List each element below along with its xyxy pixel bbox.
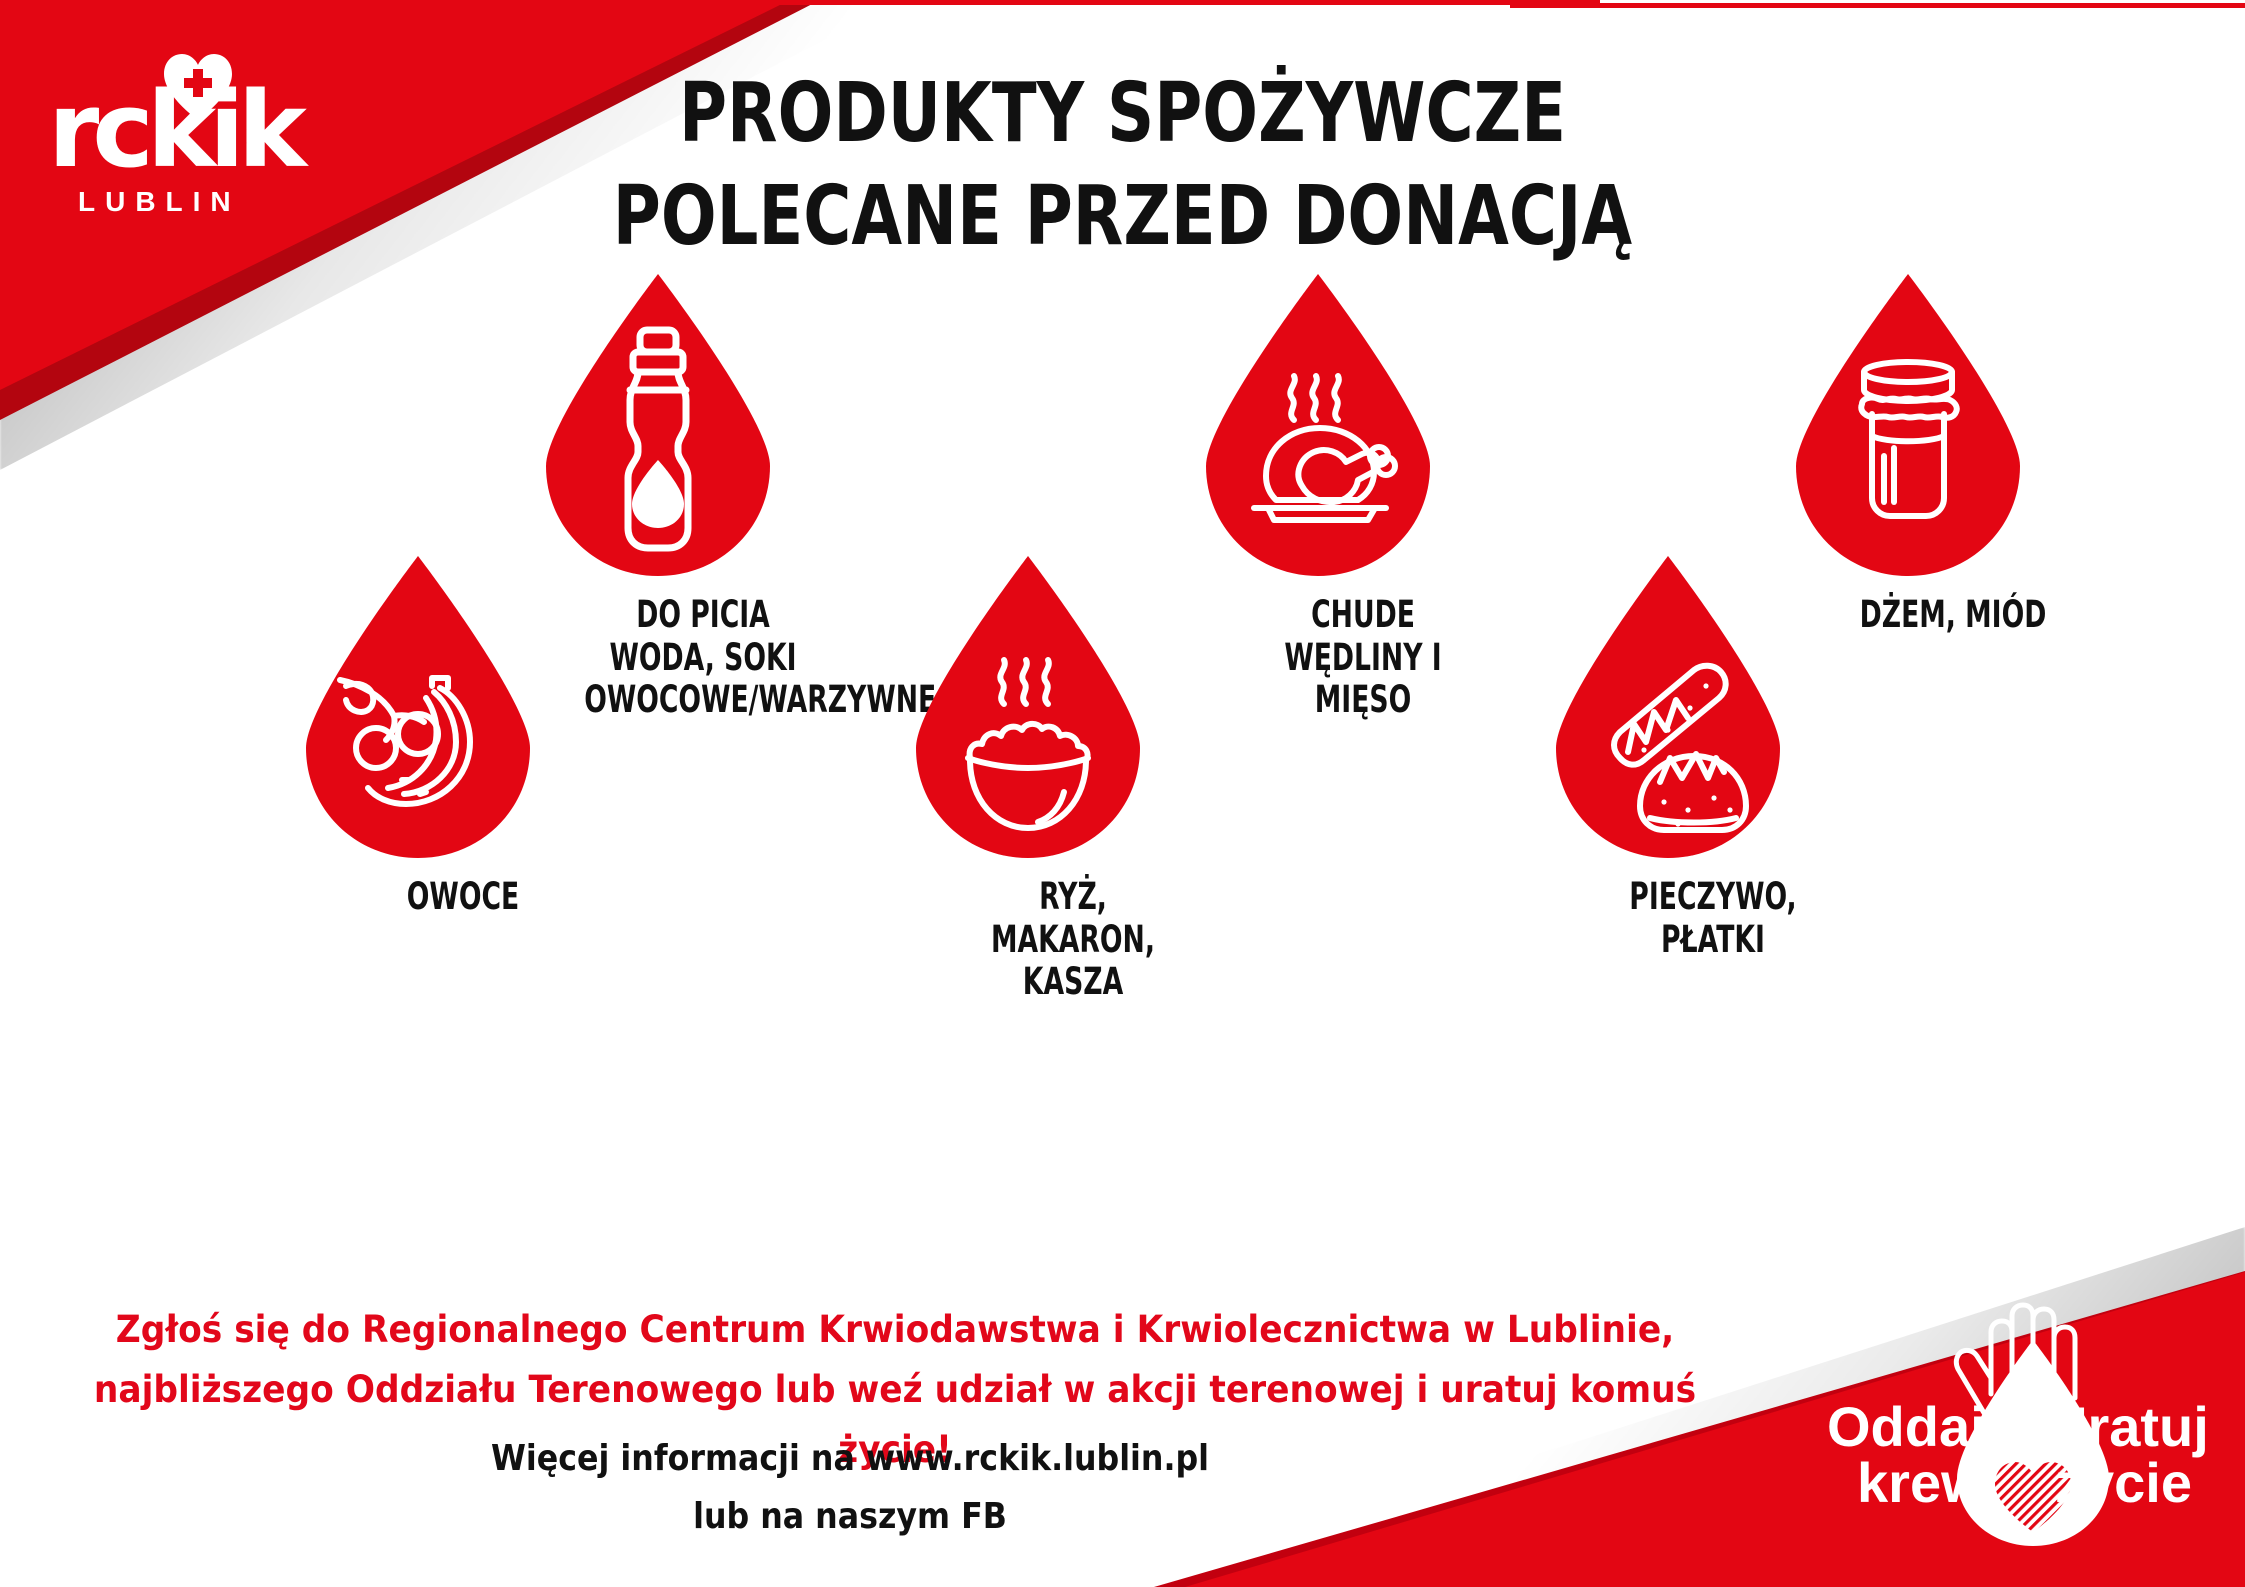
page-title: PRODUKTY SPOŻYWCZE POLECANE PRZED DONACJ… <box>0 62 2245 269</box>
blood-drop-shape <box>1548 552 1878 862</box>
footer-more-info: Więcej informacji na www.rckik.lublin.pl… <box>102 1430 1598 1547</box>
campaign-word-oddaj: Oddaj <box>1827 1395 1986 1458</box>
item-meat: CHUDE WĘDLINY I MIĘSO <box>1198 270 1528 722</box>
campaign-logo: Oddaj Uratuj krew życie <box>1807 1294 2207 1559</box>
item-label: RYŻ, MAKARON, KASZA <box>954 876 1192 1004</box>
title-line-2: POLECANE PRZED DONACJĄ <box>225 165 2021 268</box>
top-red-rule-left <box>0 0 1600 5</box>
heart-with-cross-icon <box>162 52 234 122</box>
logo-mark: rckik <box>48 52 308 182</box>
blood-drop-shape <box>908 552 1238 862</box>
blood-drop-shape <box>1198 270 1528 580</box>
item-label: CHUDE WĘDLINY I MIĘSO <box>1244 594 1482 722</box>
item-label: PIECZYWO, PŁATKI <box>1594 876 1832 961</box>
title-line-1: PRODUKTY SPOŻYWCZE <box>225 62 2021 165</box>
rckik-logo: rckik LUBLIN <box>48 52 308 218</box>
item-bread: PIECZYWO, PŁATKI <box>1548 552 1878 961</box>
item-fruit: OWOCE <box>298 552 628 919</box>
blood-drop-shape <box>1788 270 2118 580</box>
campaign-word-uratuj: Uratuj <box>2047 1395 2207 1458</box>
top-red-rule-right <box>1510 3 2245 8</box>
campaign-word-zycie: życie <box>2055 1451 2192 1514</box>
item-rice: RYŻ, MAKARON, KASZA <box>908 552 1238 1004</box>
poster-canvas: rckik LUBLIN PRODUKTY SPOŻYWCZE POLECANE… <box>0 0 2245 1587</box>
blood-drop-shape <box>538 270 868 580</box>
blood-drop-shape <box>298 552 628 862</box>
footer-red-line-1: Zgłoś się do Regionalnego Centrum Krwiod… <box>63 1300 1728 1360</box>
footer-black-line-1: Więcej informacji na www.rckik.lublin.pl <box>102 1430 1598 1488</box>
item-label: OWOCE <box>344 876 582 919</box>
campaign-word-krew: krew <box>1857 1451 1985 1514</box>
footer-black-line-2: lub na naszym FB <box>102 1488 1598 1546</box>
